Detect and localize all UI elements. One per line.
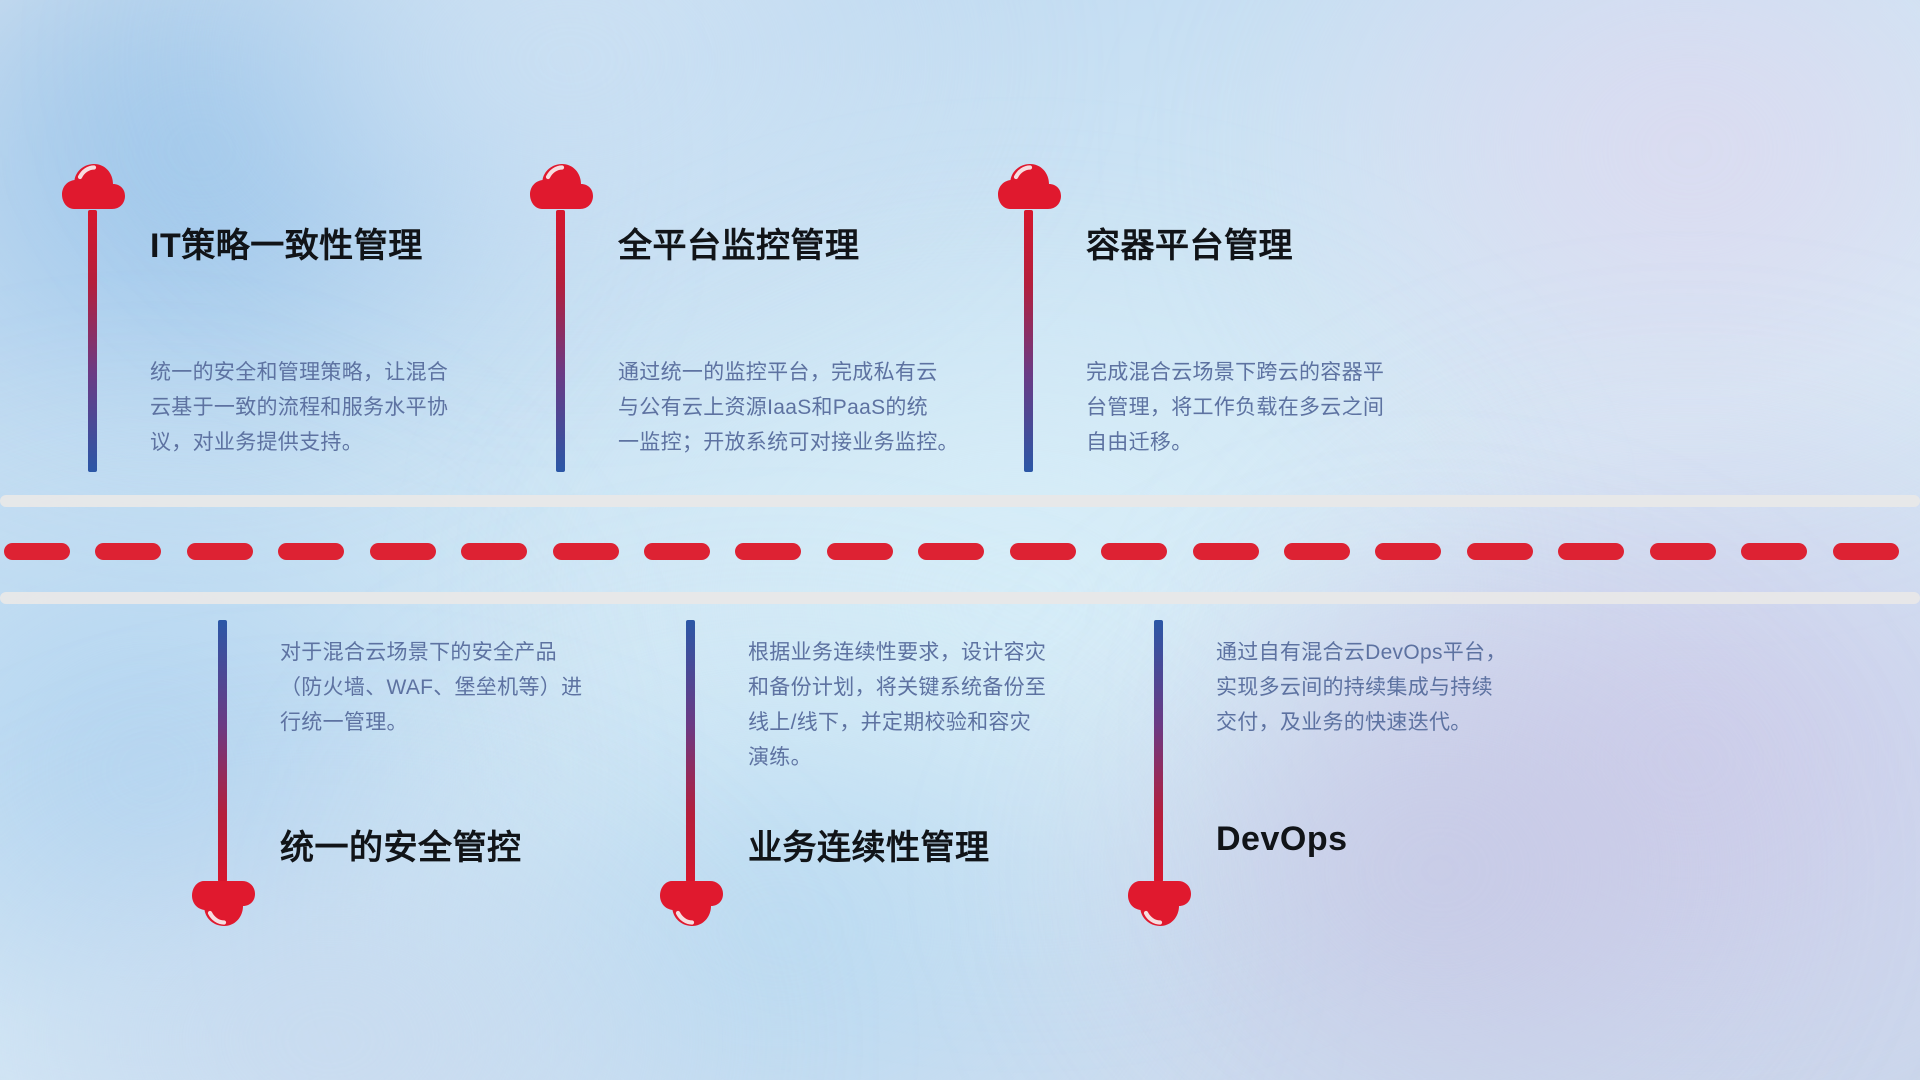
road-dash	[1193, 543, 1259, 560]
item-title: DevOps	[1216, 820, 1348, 859]
road-dash	[370, 543, 436, 560]
description-line: 行统一管理。	[280, 705, 582, 740]
road-dash	[1010, 543, 1076, 560]
road-rail-top	[0, 495, 1920, 507]
road-dash	[1833, 543, 1899, 560]
description-line: 通过统一的监控平台，完成私有云	[618, 355, 959, 390]
road-dash	[461, 543, 527, 560]
item-description: 完成混合云场景下跨云的容器平台管理，将工作负载在多云之间自由迁移。	[1086, 355, 1384, 460]
description-line: 对于混合云场景下的安全产品	[280, 635, 582, 670]
item-description: 根据业务连续性要求，设计容灾和备份计划，将关键系统备份至线上/线下，并定期校验和…	[748, 635, 1046, 775]
marker-pin-stem	[88, 210, 97, 472]
road-dash	[553, 543, 619, 560]
road-dash	[827, 543, 893, 560]
item-title: 容器平台管理	[1086, 218, 1293, 267]
road-dash	[1558, 543, 1624, 560]
item-description: 对于混合云场景下的安全产品（防火墙、WAF、堡垒机等）进行统一管理。	[280, 635, 582, 740]
description-line: 线上/线下，并定期校验和容灾	[748, 705, 1046, 740]
road-dash	[1375, 543, 1441, 560]
marker-pin-stem	[1024, 210, 1033, 472]
cloud-icon	[1126, 880, 1192, 930]
road-dash	[1741, 543, 1807, 560]
cloud-icon	[528, 160, 594, 210]
item-description: 通过自有混合云DevOps平台，实现多云间的持续集成与持续交付，及业务的快速迭代…	[1216, 635, 1507, 740]
road-dashed-center-line	[0, 543, 1920, 560]
item-title: 统一的安全管控	[280, 820, 522, 869]
item-title: IT策略一致性管理	[150, 218, 423, 267]
road-dash	[187, 543, 253, 560]
description-line: 台管理，将工作负载在多云之间	[1086, 390, 1384, 425]
road-dash	[1650, 543, 1716, 560]
description-line: 实现多云间的持续集成与持续	[1216, 670, 1507, 705]
marker-pin-stem	[218, 620, 227, 882]
item-description: 通过统一的监控平台，完成私有云与公有云上资源IaaS和PaaS的统一监控；开放系…	[618, 355, 959, 460]
description-line: 一监控；开放系统可对接业务监控。	[618, 425, 959, 460]
road-dash	[644, 543, 710, 560]
description-line: 通过自有混合云DevOps平台，	[1216, 635, 1507, 670]
description-line: 和备份计划，将关键系统备份至	[748, 670, 1046, 705]
description-line: （防火墙、WAF、堡垒机等）进	[280, 670, 582, 705]
description-line: 自由迁移。	[1086, 425, 1384, 460]
cloud-icon	[60, 160, 126, 210]
marker-pin-stem	[1154, 620, 1163, 882]
road-dash	[1101, 543, 1167, 560]
road-dash	[918, 543, 984, 560]
road-dash	[735, 543, 801, 560]
road-dash	[1467, 543, 1533, 560]
description-line: 演练。	[748, 740, 1046, 775]
description-line: 完成混合云场景下跨云的容器平	[1086, 355, 1384, 390]
description-line: 议，对业务提供支持。	[150, 425, 448, 460]
description-line: 交付，及业务的快速迭代。	[1216, 705, 1507, 740]
cloud-icon	[996, 160, 1062, 210]
cloud-icon	[658, 880, 724, 930]
road-rail-bottom	[0, 592, 1920, 604]
description-line: 统一的安全和管理策略，让混合	[150, 355, 448, 390]
description-line: 云基于一致的流程和服务水平协	[150, 390, 448, 425]
marker-pin-stem	[686, 620, 695, 882]
road-dash	[4, 543, 70, 560]
item-title: 业务连续性管理	[748, 820, 990, 869]
road-dash	[95, 543, 161, 560]
infographic-canvas: IT策略一致性管理统一的安全和管理策略，让混合云基于一致的流程和服务水平协议，对…	[0, 0, 1920, 1080]
item-description: 统一的安全和管理策略，让混合云基于一致的流程和服务水平协议，对业务提供支持。	[150, 355, 448, 460]
description-line: 与公有云上资源IaaS和PaaS的统	[618, 390, 959, 425]
cloud-icon	[190, 880, 256, 930]
description-line: 根据业务连续性要求，设计容灾	[748, 635, 1046, 670]
marker-pin-stem	[556, 210, 565, 472]
road-dash	[1284, 543, 1350, 560]
item-title: 全平台监控管理	[618, 218, 860, 267]
road-dash	[278, 543, 344, 560]
